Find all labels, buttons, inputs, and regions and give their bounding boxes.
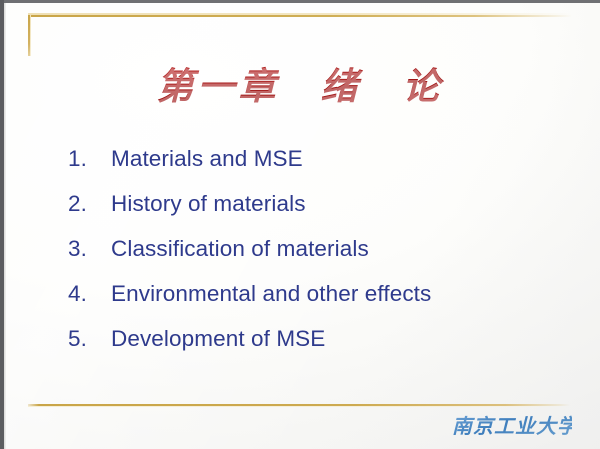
gold-left-bracket-highlight — [30, 15, 31, 56]
list-item-label: Materials and MSE — [111, 146, 303, 172]
list-item: 3. Classification of materials — [68, 236, 538, 281]
list-item-number: 1. — [68, 146, 111, 172]
outline-list: 1. Materials and MSE 2. History of mater… — [68, 146, 538, 371]
list-item-label: History of materials — [111, 191, 306, 217]
list-item-number: 2. — [68, 191, 111, 217]
list-item: 1. Materials and MSE — [68, 146, 538, 191]
list-item: 2. History of materials — [68, 191, 538, 236]
list-item-label: Classification of materials — [111, 236, 369, 262]
list-item-number: 3. — [68, 236, 111, 262]
gold-top-rule — [28, 15, 572, 17]
slide-title: 第一章 绪 论 — [0, 56, 600, 110]
list-item: 5. Development of MSE — [68, 326, 538, 371]
list-item-label: Development of MSE — [111, 326, 325, 352]
list-item-number: 4. — [68, 281, 111, 307]
list-item: 4. Environmental and other effects — [68, 281, 538, 326]
list-item-label: Environmental and other effects — [111, 281, 431, 307]
slide-canvas: 第一章 绪 论 1. Materials and MSE 2. History … — [0, 0, 600, 449]
gold-bottom-rule-highlight — [28, 406, 570, 407]
top-edge-strip — [0, 0, 600, 3]
list-item-number: 5. — [68, 326, 111, 352]
university-logo: 南京工业大学 — [452, 410, 572, 439]
